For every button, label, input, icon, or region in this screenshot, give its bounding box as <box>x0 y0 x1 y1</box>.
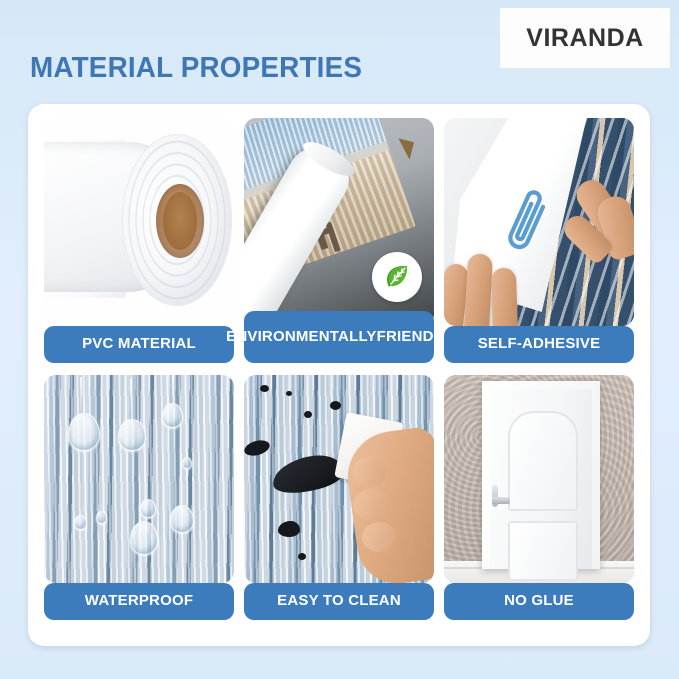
door-lower-panel-shape <box>508 521 578 581</box>
feature-label-environmentally-friendly: ENVIRONMENTALLY FRIENDLY <box>244 311 434 363</box>
feature-card-self-adhesive[interactable]: SELF-ADHESIVE <box>444 118 634 363</box>
feature-label-pvc-material: PVC MATERIAL <box>44 326 234 363</box>
feature-label-waterproof: WATERPROOF <box>44 583 234 620</box>
stain-mark <box>298 553 306 560</box>
feature-grid: PVC MATERIAL <box>44 118 634 620</box>
right-hand-shape <box>568 178 634 268</box>
water-droplet <box>118 419 146 451</box>
water-droplet <box>74 515 87 530</box>
feature-label-self-adhesive: SELF-ADHESIVE <box>444 326 634 363</box>
self-adhesive-image <box>444 118 634 326</box>
water-droplet <box>140 499 156 518</box>
feature-card-easy-to-clean[interactable]: EASY TO CLEAN <box>244 375 434 620</box>
water-droplet <box>182 457 192 469</box>
door-leaf-shape <box>490 389 592 569</box>
waterproof-image <box>44 375 234 583</box>
page-title: MATERIAL PROPERTIES <box>30 52 362 85</box>
feature-label-no-glue: NO GLUE <box>444 583 634 620</box>
door-lever-shape <box>492 497 510 504</box>
label-line-2: FRIENDLY <box>377 329 452 345</box>
stain-mark <box>330 401 341 410</box>
pvc-roll-image <box>44 118 234 326</box>
feature-card-environmentally-friendly[interactable]: ENVIRONMENTALLY FRIENDLY <box>244 118 434 363</box>
brand-name: VIRANDA <box>526 24 643 53</box>
label-line-1: ENVIRONMENTALLY <box>226 329 377 345</box>
door-upper-panel-shape <box>508 411 578 511</box>
droplet-trail <box>80 377 82 417</box>
water-droplet <box>68 413 100 451</box>
feature-card-waterproof[interactable]: WATERPROOF <box>44 375 234 620</box>
feature-panel: PVC MATERIAL <box>28 104 650 646</box>
droplet-trail <box>130 379 132 413</box>
pvc-core-hole-shape <box>163 192 197 250</box>
water-droplet <box>162 403 183 428</box>
stain-mark <box>278 521 300 537</box>
stain-mark <box>260 385 269 392</box>
brand-logo-box: VIRANDA <box>500 8 670 68</box>
feature-card-pvc-material[interactable]: PVC MATERIAL <box>44 118 234 363</box>
leaf-icon <box>372 252 422 302</box>
stain-mark <box>286 391 292 396</box>
door-frame-shape <box>482 381 600 569</box>
hand-shape <box>342 425 434 583</box>
water-droplet <box>130 521 158 555</box>
feature-card-no-glue[interactable]: NO GLUE <box>444 375 634 620</box>
stain-mark <box>304 411 312 418</box>
left-hand-shape <box>444 228 536 326</box>
easy-to-clean-image <box>244 375 434 583</box>
no-glue-image <box>444 375 634 583</box>
stain-mark <box>244 438 271 459</box>
eco-curl-corner-shape <box>394 138 414 159</box>
water-droplet <box>170 505 194 533</box>
water-droplet <box>96 511 107 524</box>
eco-wallpaper-image <box>244 118 434 326</box>
feature-label-easy-to-clean: EASY TO CLEAN <box>244 583 434 620</box>
